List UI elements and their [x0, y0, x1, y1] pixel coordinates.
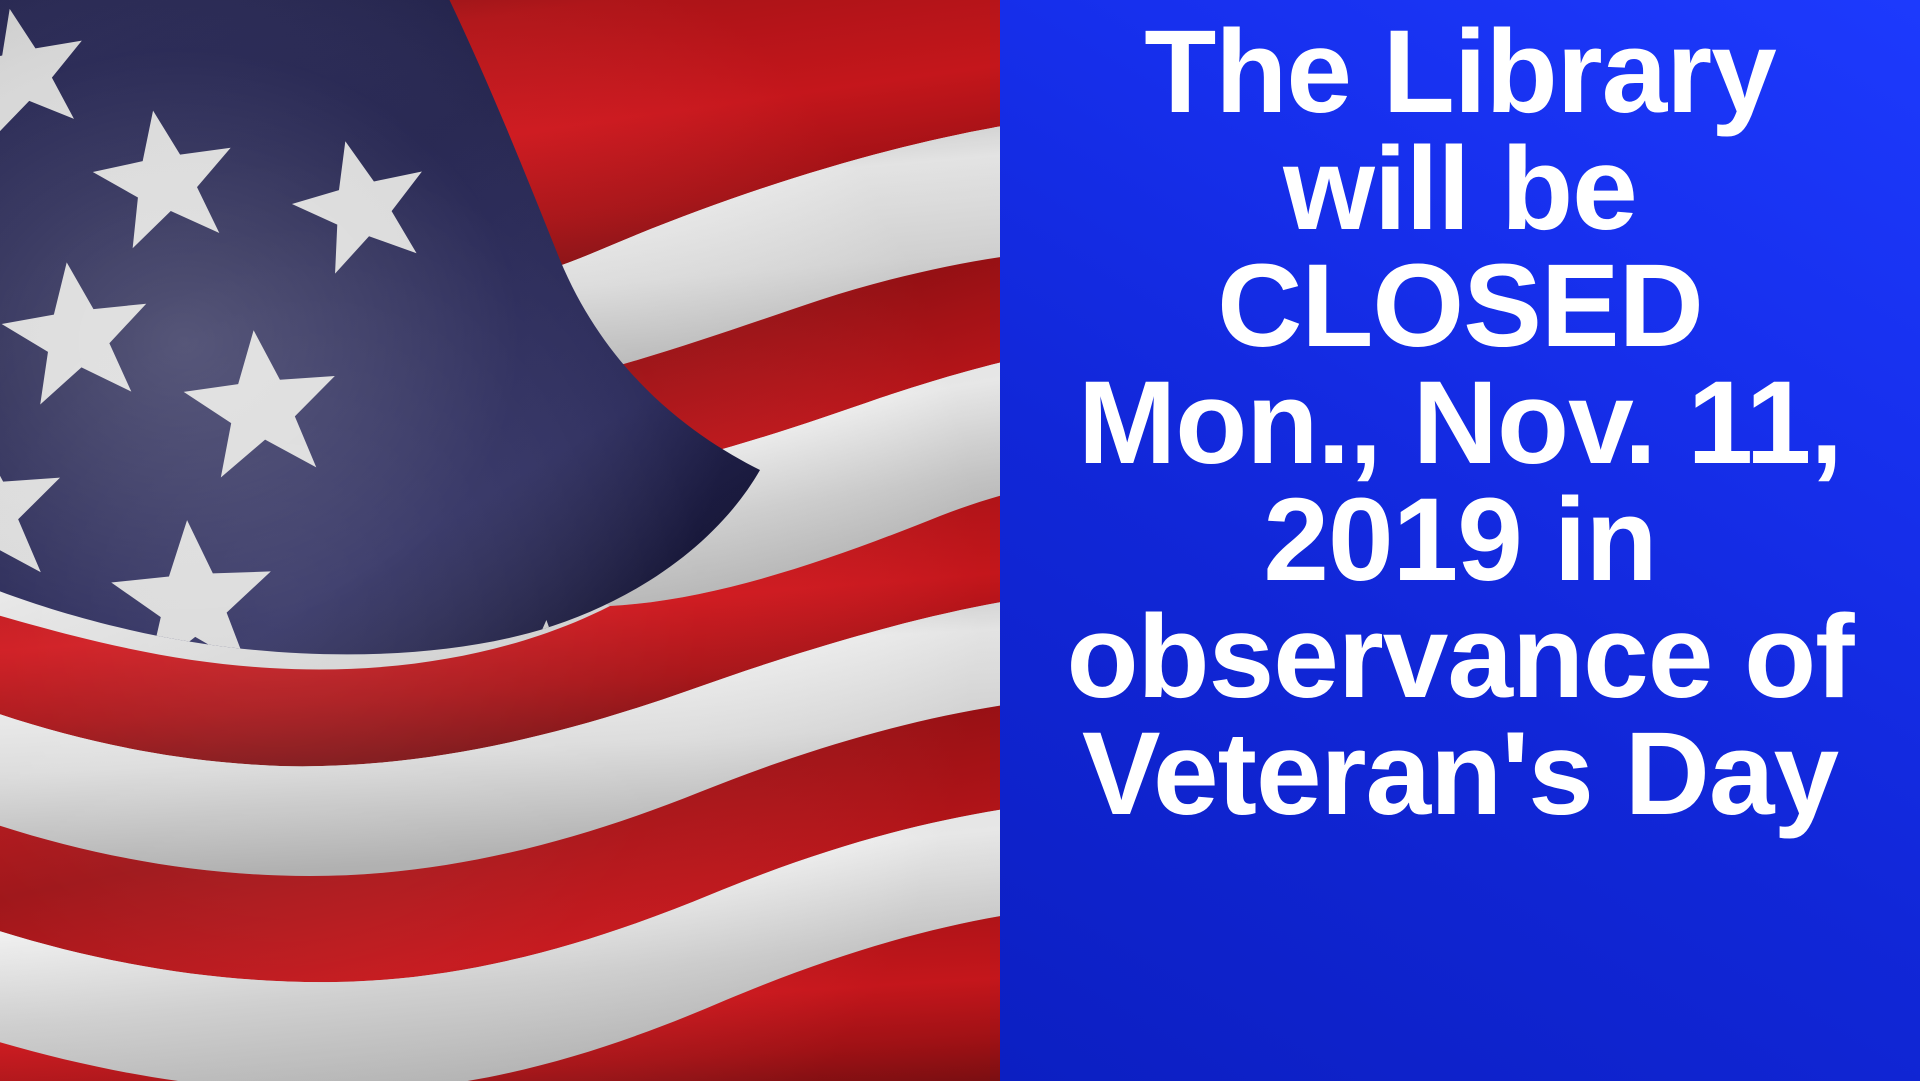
flag-illustration — [0, 0, 1000, 1081]
closure-notice-panel: The Library will be CLOSED Mon., Nov. 11… — [1000, 0, 1920, 1081]
poster-canvas: The Library will be CLOSED Mon., Nov. 11… — [0, 0, 1920, 1081]
closure-notice-text: The Library will be CLOSED Mon., Nov. 11… — [1000, 14, 1920, 833]
american-flag-image — [0, 0, 1000, 1081]
